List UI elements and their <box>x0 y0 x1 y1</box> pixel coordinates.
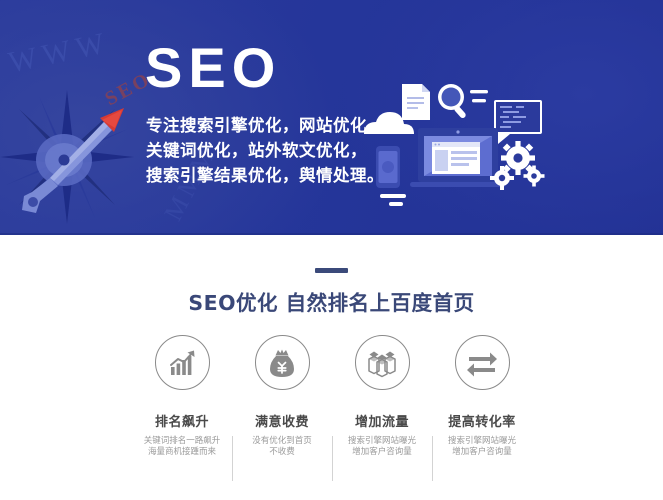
hero-description-line-3: 搜索引擎结果优化，舆情处理。 <box>146 163 384 188</box>
growth-chart-icon <box>155 335 210 390</box>
feature-description: 搜索引擎网站曝光 增加客户咨询量 <box>448 436 516 458</box>
feature-item-ranking[interactable]: 排名飙升 关键词排名一路飙升 海量商机接踵而来 <box>132 335 232 485</box>
seo-landing-page: WWW SEO MMM <box>0 0 663 500</box>
feature-list: 排名飙升 关键词排名一路飙升 海量商机接踵而来 <box>132 335 532 485</box>
feature-description: 关键词排名一路飙升 海量商机接踵而来 <box>144 436 221 458</box>
exchange-arrows-icon <box>455 335 510 390</box>
feature-description-line-1: 没有优化到首页 <box>252 436 312 447</box>
bar-decoration <box>380 194 406 206</box>
feature-item-traffic[interactable]: 增加流量 搜索引擎网站曝光 增加客户咨询量 <box>332 335 432 485</box>
feature-description-line-2: 海量商机接踵而来 <box>144 447 221 458</box>
www-decoration-text: WWW <box>6 26 114 81</box>
feature-description-line-1: 搜索引擎网站曝光 <box>348 436 416 447</box>
feature-description: 搜索引擎网站曝光 增加客户咨询量 <box>348 436 416 458</box>
compass-icon <box>0 82 142 232</box>
features-section: SEO优化 自然排名上百度首页 排名飙 <box>0 235 663 500</box>
feature-description-line-2: 增加客户咨询量 <box>448 447 516 458</box>
feature-description-line-1: 搜索引擎网站曝光 <box>448 436 516 447</box>
hero-brand-title: SEO <box>145 40 281 96</box>
gears-icon <box>490 141 545 190</box>
smartphone-icon <box>376 146 400 188</box>
feature-description-line-2: 不收费 <box>252 447 312 458</box>
feature-title: 提高转化率 <box>448 411 516 430</box>
feature-title: 增加流量 <box>355 411 409 430</box>
feature-description: 没有优化到首页 不收费 <box>252 436 312 458</box>
code-window-icon <box>494 100 542 144</box>
boxes-icon <box>355 335 410 390</box>
money-bag-icon <box>255 335 310 390</box>
hero-description-line-2: 关键词优化，站外软文优化， <box>146 138 384 163</box>
feature-item-conversion[interactable]: 提高转化率 搜索引擎网站曝光 增加客户咨询量 <box>432 335 532 485</box>
hero-illustration <box>358 72 548 207</box>
feature-description-line-1: 关键词排名一路飙升 <box>144 436 221 447</box>
hero-description: 专注搜索引擎优化，网站优化， 关键词优化，站外软文优化， 搜索引擎结果优化，舆情… <box>146 113 384 188</box>
section-title: SEO优化 自然排名上百度首页 <box>0 286 663 316</box>
magnifier-icon <box>438 84 488 119</box>
hero-banner: WWW SEO MMM <box>0 0 663 235</box>
feature-title: 满意收费 <box>255 411 309 430</box>
feature-title: 排名飙升 <box>155 411 209 430</box>
section-accent-bar <box>315 268 348 273</box>
document-icon <box>402 84 430 120</box>
hero-description-line-1: 专注搜索引擎优化，网站优化， <box>146 113 384 138</box>
feature-description-line-2: 增加客户咨询量 <box>348 447 416 458</box>
feature-item-pricing[interactable]: 满意收费 没有优化到首页 不收费 <box>232 335 332 485</box>
